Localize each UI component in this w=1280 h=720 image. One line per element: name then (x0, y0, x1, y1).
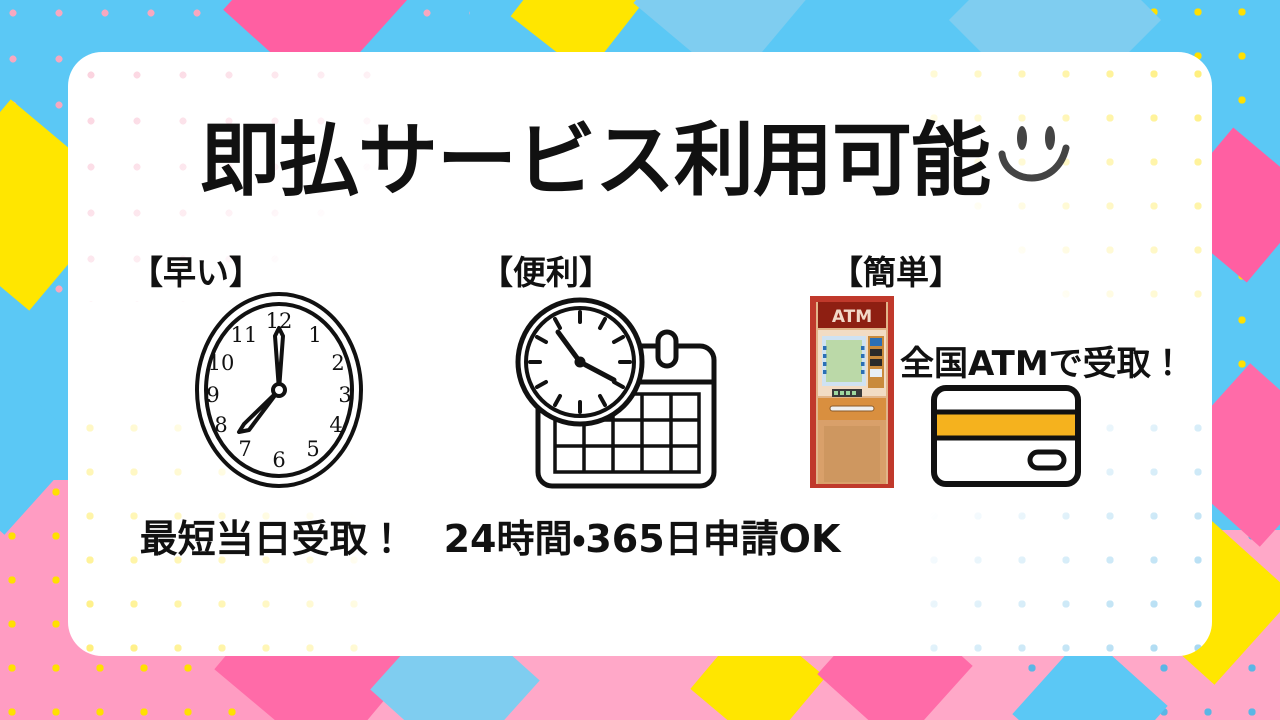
banner-content: 即払サービス利用可能 【早い】 【便利】 【簡単】 12 (0, 0, 1280, 720)
svg-text:11: 11 (231, 323, 258, 347)
smiley-face-icon (994, 118, 1080, 207)
banner-stage: 即払サービス利用可能 【早い】 【便利】 【簡単】 12 (0, 0, 1280, 720)
feature-columns: 【早い】 【便利】 【簡単】 12 1 2 3 4 5 6 7 (0, 246, 1280, 506)
banner-title: 即払サービス利用可能 (0, 118, 1280, 207)
atm-machine-icon: ATM (806, 294, 898, 495)
bottom-tagline: 最短当日受取！ 24時間・365日申請OK (0, 508, 1280, 563)
feature-label-easy: 【簡単】 (830, 246, 962, 294)
atm-sign-text: ATM (832, 307, 872, 327)
feature-label-convenient: 【便利】 (480, 246, 612, 294)
svg-text:5: 5 (306, 437, 319, 461)
svg-text:2: 2 (331, 351, 344, 375)
svg-text:4: 4 (329, 413, 342, 437)
svg-text:3: 3 (338, 383, 351, 407)
banner-title-text: 即払サービス利用可能 (200, 114, 990, 207)
svg-text:1: 1 (308, 323, 321, 347)
svg-text:7: 7 (238, 437, 251, 461)
svg-text:6: 6 (272, 448, 285, 472)
wall-clock-icon: 12 1 2 3 4 5 6 7 8 9 10 11 (192, 290, 367, 495)
calendar-clock-icon (510, 294, 725, 499)
svg-text:8: 8 (214, 413, 227, 437)
svg-text:9: 9 (206, 383, 219, 407)
atm-callout-text: 全国ATMで受取！ (900, 336, 1185, 385)
svg-text:10: 10 (208, 351, 235, 375)
credit-card-icon (930, 384, 1082, 493)
feature-label-fast: 【早い】 (130, 246, 262, 294)
